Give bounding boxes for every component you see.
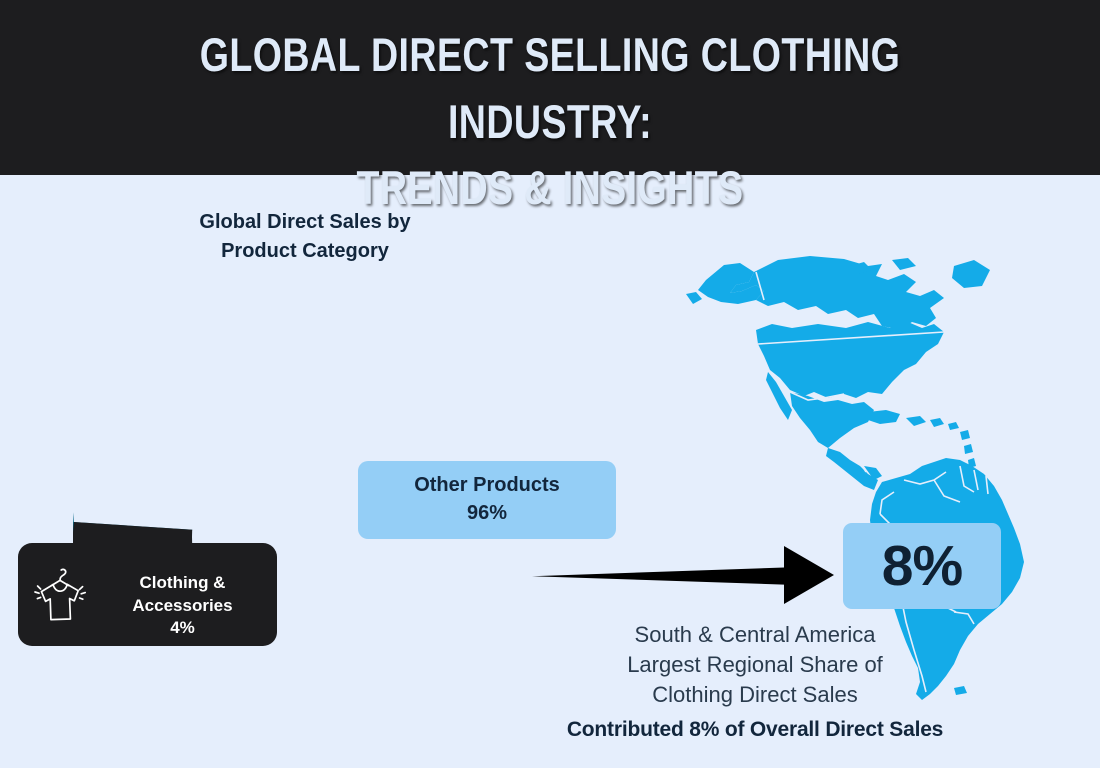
caption-bold-line: Contributed 8% of Overall Direct Sales	[510, 718, 1000, 742]
pointer-arrow	[528, 540, 843, 610]
arrow-shape	[532, 546, 834, 604]
callout-other-products-value: 96%	[467, 500, 507, 528]
infographic-canvas: Global Direct Selling Clothing Industry:…	[0, 0, 1100, 768]
header-band: Global Direct Selling Clothing Industry:…	[0, 0, 1100, 175]
caption-block: South & Central America Largest Regional…	[510, 620, 1000, 742]
callout-clothing-accessories: Clothing & Accessories 4%	[18, 543, 277, 646]
regional-share-badge: 8%	[843, 523, 1001, 609]
chart-heading: Global Direct Sales by Product Category	[140, 208, 470, 266]
callout-other-products-label: Other Products	[414, 472, 560, 500]
caption-lines: South & Central America Largest Regional…	[510, 620, 1000, 710]
callout-clothing-value: 4%	[170, 618, 195, 637]
page-title: Global Direct Selling Clothing Industry:…	[110, 22, 990, 222]
callout-clothing-text-group: Clothing & Accessories 4%	[96, 550, 277, 640]
callout-clothing-label: Clothing & Accessories	[132, 573, 232, 614]
tshirt-hanger-icon	[18, 564, 96, 626]
callout-other-products: Other Products 96%	[358, 461, 616, 539]
